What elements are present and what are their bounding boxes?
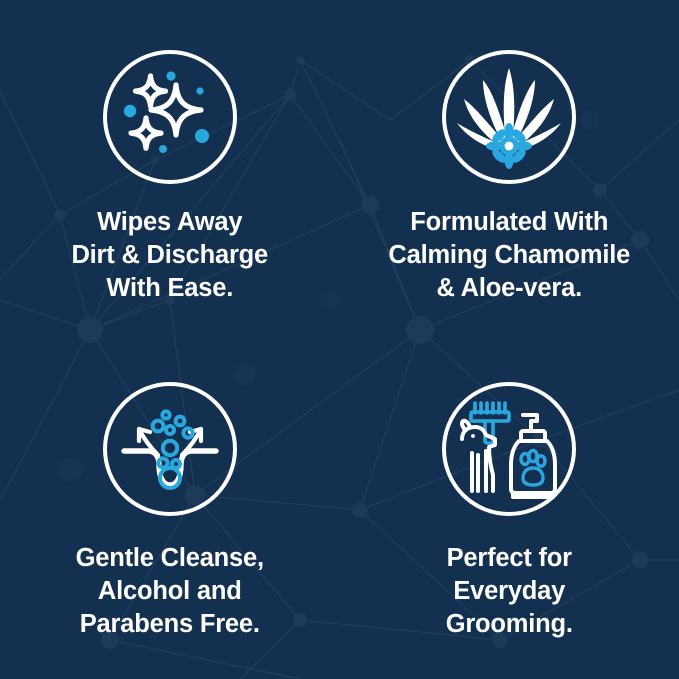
- feature-caption: Wipes Away Dirt & Discharge With Ease.: [71, 206, 268, 305]
- feature-caption: Perfect for Everyday Grooming.: [446, 542, 573, 641]
- pore-cleanse-bubbles-icon: [103, 382, 237, 516]
- feature-card-formulated-with: Formulated With Calming Chamomile & Aloe…: [340, 0, 679, 340]
- feature-caption: Gentle Cleanse, Alcohol and Parabens Fre…: [76, 542, 264, 641]
- feature-card-wipes-away: Wipes Away Dirt & Discharge With Ease.: [0, 0, 340, 340]
- dog-grooming-bottle-icon: [442, 382, 576, 516]
- feature-caption: Formulated With Calming Chamomile & Aloe…: [388, 206, 630, 305]
- feature-card-gentle-cleanse: Gentle Cleanse, Alcohol and Parabens Fre…: [0, 340, 340, 679]
- feature-grid: Wipes Away Dirt & Discharge With Ease.: [0, 0, 679, 679]
- feature-card-everyday-grooming: Perfect for Everyday Grooming.: [340, 340, 679, 679]
- aloe-plant-flower-icon: [442, 50, 576, 184]
- sparkle-clean-icon: [103, 50, 237, 184]
